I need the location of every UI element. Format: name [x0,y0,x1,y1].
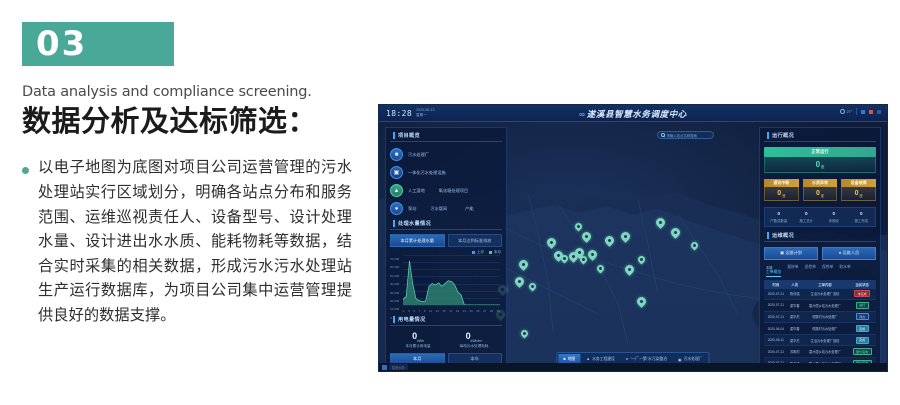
clipboard-icon: ▣ [780,250,784,255]
chart-x-tick: 31 [497,309,500,313]
map-pin-shape [654,216,667,229]
alert-card-title: 设备故障 [841,179,876,187]
map-pin-icon[interactable] [575,223,582,232]
legend-label: 泵站 [408,206,416,212]
left-panel-heading-label: 项目概览 [398,132,420,139]
water-volume-tabs: 本月累计处理水量 本月达到标准排放 [390,234,502,247]
dashboard-title-group: ∞ 遂溪县智慧水务调度中心 [579,108,687,120]
tab-repair[interactable]: 报修单 [787,265,798,277]
kpi-row: 0 户数总数量 0 施工总计 0 未验收 0 施工完成 [764,207,876,227]
chart-y-tick: 0 [390,314,399,322]
chart-y-tick: 30,000 [390,289,399,297]
ops-plan-label: 运维计划 [785,250,802,255]
tab-water-intake[interactable]: 取水单 [839,265,850,277]
chart-x-tick: 19 [456,309,459,313]
worksheet-tabs: 本期 工单概览 报修单 巡检单 保养单 取水单 [764,265,876,277]
plant-icon: ▣ [678,357,682,362]
table-row[interactable]: 2020-06-04梁华春恒隆村污水处理厂完成 [764,323,876,335]
chart-x-tick: 23 [470,309,473,313]
map-pin-shape [528,282,538,292]
legend-label: 人工湿地 [408,188,425,194]
chart-x-tick: 29 [490,309,493,313]
alert-cards: 通讯中断 0 座 水质异常 0 座 设备故障 [764,179,876,201]
chart-x-tick: 17 [449,309,452,313]
worksheet-table: 时间 人员 工单内容 当前状态 2020-07-21陈伟强生活污水处理厂巡检未完… [764,280,876,370]
alert-card-unit: 座 [821,193,824,198]
power-heading-label: 用电量情况 [398,316,425,323]
water-icon: ● [626,357,628,361]
dashboard-title: 遂溪县智慧水务调度中心 [587,108,687,120]
slide-page: 03 Data analysis and compliance screenin… [0,0,900,405]
heading-accent-bar [393,132,395,139]
alert-card-body: 0 座 [803,187,838,201]
chart-x-tick: 7 [419,309,421,313]
alert-card-fault[interactable]: 设备故障 0 座 [841,179,876,201]
app-icon[interactable] [382,365,387,370]
kpi-value: 0 [820,211,848,216]
table-cell-date: 2020-06-04 [764,323,788,335]
left-panel: 项目概览 ■ 污水处理厂 ▣ 一体化污水处理设施 ▲ 人工湿地 氧化塘处理项目 [385,127,507,365]
building-icon: ▣ [390,166,403,179]
heading-accent-bar [767,232,769,239]
build-icon: ▲ [586,357,590,361]
tab-monthly-compliant[interactable]: 本月达到标准排放 [448,234,503,247]
legend-swatch-last-month [472,251,475,254]
dashboard-topbar: 18:28 2020-08-13 星期一 ∞ 遂溪县智慧水务调度中心 27° [379,105,887,122]
user-icon: ● [839,250,842,255]
table-row[interactable]: 2020-06-11梁华杰生活污水处理厂巡检完成 [764,334,876,346]
ops-heading: 运维概况 [764,232,876,242]
kpi-label: 施工完成 [848,218,876,223]
map-pin-shape [690,241,700,251]
map-pin-icon[interactable] [580,256,587,265]
chart-y-tick: 20,000 [390,297,399,305]
left-text-column: 03 Data analysis and compliance screenin… [22,22,352,329]
english-subtitle: Data analysis and compliance screening. [22,84,352,100]
section-number: 03 [36,27,87,61]
table-cell-content: 生活污水处理厂巡检 [802,334,849,346]
right-panel-heading: 运行概况 [764,132,876,142]
table-cell-date: 2020-07-21 [764,311,788,323]
status-normal-value: 0 [816,160,820,169]
table-cell-date: 2020-06-11 [764,334,788,346]
table-header-content: 工单内容 [802,280,849,289]
table-cell-date: 2020-07-21 [764,300,788,312]
bullet-dot-icon [22,167,29,174]
bottom-tab-plant-label: 污水处理厂 [684,357,703,362]
alert-card-title: 水质异常 [803,179,838,187]
map-pin-icon[interactable] [521,330,528,339]
table-cell-status: 待办 [848,311,876,323]
map-pin-icon[interactable] [588,250,597,262]
table-cell-status: 完成 [848,334,876,346]
tab-maintenance[interactable]: 保养单 [822,265,833,277]
table-row[interactable]: 2020-07-21梁华杰恒隆村污水处理厂待办 [764,311,876,323]
legend-item[interactable]: ▲ 人工湿地 氧化塘处理项目 [390,184,502,197]
table-header-row: 时间 人员 工单内容 当前状态 [764,280,876,289]
table-header-date: 时间 [764,280,788,289]
chart-x-tick: 9 [424,309,426,313]
left-panel-heading: 项目概览 [390,132,502,142]
wetland-icon: ▲ [390,184,403,197]
kpi-item: 0 未验收 [820,211,848,223]
map-pin-shape [586,248,599,261]
search-icon [661,133,665,137]
power-stat-value: 0kWh/m³ [446,331,502,343]
tab-worksheet-overview[interactable]: 本期 工单概览 [766,265,781,277]
legend-swatch-this-month [489,251,492,254]
status-badge-normal: 正常运行 [764,147,876,157]
chart-x-axis: 135791113151719212325272931 [403,309,500,313]
map-pin-icon[interactable] [582,232,591,244]
table-cell-person: 梁华春 [788,323,802,335]
status-badge: 部分完成 [853,348,872,355]
power-unit: kWh/m³ [471,339,483,343]
map-pin-shape [580,230,593,243]
weather-temp: 27° [847,110,852,114]
map-pin-shape [623,263,636,276]
table-cell-content: 恒隆村污水处理厂 [802,311,849,323]
status-badge: 完成 [856,325,869,332]
alert-card-body: 0 座 [764,187,799,201]
tab-inspection[interactable]: 巡检单 [805,265,816,277]
alert-card-unit: 座 [782,193,785,198]
map-pin-shape [513,275,526,288]
ops-heading-label: 运维概况 [772,232,794,239]
map-pin-shape [603,234,616,247]
map-pin-icon[interactable] [691,242,698,251]
table-cell-person: 梁华杰 [788,334,802,346]
map-pin-shape [579,255,589,265]
map-pin-icon[interactable] [638,256,645,265]
kpi-value: 0 [793,211,821,216]
alert-card-value: 0 [816,190,820,197]
map-pin-shape [520,329,530,339]
legend-label-tertiary: 产能 [465,206,473,212]
kpi-value: 0 [765,211,793,216]
legend-label-secondary: 污水管网 [430,206,447,212]
map-icon: ■ [563,357,565,361]
map-pin-shape [669,226,682,239]
chart-y-tick: 70,000 [390,255,399,263]
search-placeholder: 请输入站点名称搜索 [667,133,698,138]
chart-x-tick: 27 [483,309,486,313]
taskbar-app-label[interactable]: 智慧水务 [389,364,408,370]
map-pin-icon[interactable] [547,238,556,250]
map-pin-shape [574,222,584,232]
chart-x-tick: 21 [463,309,466,313]
page-title: 数据分析及达标筛选： [22,106,352,139]
bottom-tab-construction-label: 水务工程建设 [592,357,615,362]
legend-item[interactable]: ● 泵站 污水管网 产能 [390,202,502,215]
right-panel-heading-label: 运行概况 [772,132,794,139]
ops-staff-button[interactable]: ● 运维人员 [822,247,876,260]
bullet-item: 以电子地图为底图对项目公司运营管理的污水处理站实行区域划分，明确各站点分布和服务… [22,156,352,328]
map-pin-icon[interactable] [605,236,614,248]
window-minimize-icon[interactable] [861,110,865,114]
table-row[interactable]: 2020-07-21苏明村雷州潭乡站污水处理厂部分完成 [764,346,876,358]
table-cell-person: 梁华春 [788,300,802,312]
table-cell-status: 未完成 [848,289,876,300]
os-taskbar: 智慧水务 [379,363,887,371]
alert-card-value: 0 [855,190,859,197]
status-badge: 进行 [856,302,869,309]
alert-card-value: 0 [777,190,781,197]
map-pin-icon[interactable] [637,297,646,309]
chart-y-axis: 70,00060,00050,00040,00030,00020,00010,0… [390,255,399,322]
project-legend-list: ■ 污水处理厂 ▣ 一体化污水处理设施 ▲ 人工湿地 氧化塘处理项目 ● 泵 [390,148,502,215]
table-cell-person: 苏明村 [788,346,802,358]
status-normal-unit: 座 [821,164,824,169]
legend-label: 污水处理厂 [408,152,429,158]
power-stat: 0kWh/m³ 每吨污水处理电耗 [446,331,502,349]
bottom-tab-policy-label: "一厂一策"水污染整治 [630,357,667,362]
ops-buttons: ▣ 运维计划 ● 运维人员 [764,247,876,260]
window-close-icon[interactable] [869,110,873,114]
chart-y-tick: 50,000 [390,272,399,280]
map-pin-icon[interactable] [597,265,604,274]
table-cell-person: 陈伟强 [788,289,802,300]
table-row[interactable]: 2020-07-21梁华春雷州潭乡站污水处理厂进行 [764,300,876,312]
map-pin-icon[interactable] [656,218,665,230]
search-input[interactable]: 请输入站点名称搜索 [657,131,714,139]
heading-accent-bar [767,132,769,139]
power-stat: 0kWh 本月累计用电量 [390,331,446,349]
infinity-icon: ∞ [579,110,583,119]
alert-card-title: 通讯中断 [764,179,799,187]
factory-icon: ■ [390,148,403,161]
table-cell-content: 恒隆村污水处理厂 [802,323,849,335]
dashboard-screenshot: 18:28 2020-08-13 星期一 ∞ 遂溪县智慧水务调度中心 27° [378,104,888,372]
table-cell-content: 雷州潭乡站污水处理厂 [802,300,849,312]
map-pin-icon[interactable] [621,232,630,244]
heading-accent-bar [393,220,395,227]
chart-x-tick: 5 [413,309,415,313]
legend-item[interactable]: ■ 污水处理厂 [390,148,502,161]
map-pin-icon[interactable] [515,277,524,289]
map-pin-shape [619,230,632,243]
chart-y-tick: 40,000 [390,280,399,288]
table-row[interactable]: 2020-07-21陈伟强生活污水处理厂巡检未完成 [764,289,876,300]
map-pin-shape [637,255,647,265]
kpi-item: 0 施工完成 [848,211,876,223]
legend-item[interactable]: ▣ 一体化污水处理设施 [390,166,502,179]
table-cell-date: 2020-07-21 [764,346,788,358]
chart-plot-area [403,255,500,305]
power-stats: 0kWh 本月累计用电量 0kWh/m³ 每吨污水处理电耗 [390,331,502,349]
table-cell-status: 部分完成 [848,346,876,358]
power-stat-value: 0kWh [390,331,446,343]
table-cell-content: 雷州潭乡站污水处理厂 [802,346,849,358]
map-pin-shape [517,258,530,271]
alert-card-unit: 座 [860,193,863,198]
sun-icon [840,109,845,114]
kpi-item: 0 户数总数量 [765,211,793,223]
table-header-status: 当前状态 [848,280,876,289]
kpi-item: 0 施工总计 [793,211,821,223]
chart-x-tick: 25 [476,309,479,313]
legend-label: 一体化污水处理设施 [408,170,446,176]
map-pin-icon[interactable] [529,283,536,292]
weather-widget: 27° [840,109,852,114]
power-stat-label: 本月累计用电量 [390,344,446,349]
chart-gridline [403,305,500,306]
map-pin-shape [545,236,558,249]
table-cell-date: 2020-07-21 [764,289,788,300]
alert-card-body: 0 座 [841,187,876,201]
ops-plan-button[interactable]: ▣ 运维计划 [764,247,818,260]
map-pin-shape [635,295,648,308]
chart-series-svg [403,255,500,305]
status-normal-value-box: 0 座 [764,157,876,173]
table-header-person: 人员 [788,280,802,289]
legend-label-secondary: 氧化塘处理项目 [439,188,468,194]
chart-y-tick: 60,000 [390,263,399,271]
alert-card-comm[interactable]: 通讯中断 0 座 [764,179,799,201]
map-pin-shape [596,264,606,274]
chart-x-tick: 11 [429,309,432,313]
tab-worksheet-label: 工单概览 [766,270,781,274]
table-cell-status: 进行 [848,300,876,312]
map-pin-icon[interactable] [625,265,634,277]
map-pin-icon[interactable] [561,255,568,264]
power-stat-label: 每吨污水处理电耗 [446,344,502,349]
clock-date: 2020-08-13 星期一 [416,108,434,118]
status-badge: 待办 [856,313,869,320]
topbar-right-group: 27° [840,108,881,115]
table-cell-person: 梁华杰 [788,311,802,323]
water-volume-heading-label: 处理水量情况 [398,220,431,227]
chart-x-tick: 15 [442,309,445,313]
chart-x-tick: 3 [408,309,410,313]
valve-icon: ● [390,202,403,215]
map-pin-icon[interactable] [671,228,680,240]
window-settings-icon[interactable] [877,110,881,114]
section-number-badge: 03 [22,22,174,66]
clock-date-line2: 星期一 [416,113,434,118]
kpi-label: 施工总计 [793,218,821,223]
status-badge: 完成 [856,337,869,344]
chart-x-tick: 1 [403,309,405,313]
water-volume-chart: 上月 本月 70,00060,00050,00040,00030,00020,0… [390,251,502,313]
kpi-label: 未验收 [820,218,848,223]
map-pin-icon[interactable] [519,260,528,272]
topbar-divider [856,108,857,115]
status-badge: 未完成 [854,290,870,297]
kpi-value: 0 [848,211,876,216]
tab-monthly-total[interactable]: 本月累计处理水量 [390,234,445,247]
ops-staff-label: 运维人员 [842,250,859,255]
table-body: 2020-07-21陈伟强生活污水处理厂巡检未完成2020-07-21梁华春雷州… [764,289,876,370]
chart-x-tick: 13 [436,309,439,313]
power-unit: kWh [417,339,424,343]
bottom-tab-map-label: 地图 [568,357,576,362]
clock-time: 18:28 [386,109,412,118]
chart-y-tick: 10,000 [390,305,399,313]
table-cell-status: 完成 [848,323,876,335]
water-volume-heading: 处理水量情况 [390,220,502,230]
alert-card-quality[interactable]: 水质异常 0 座 [803,179,838,201]
table-cell-content: 生活污水处理厂巡检 [802,289,849,300]
kpi-label: 户数总数量 [765,218,793,223]
power-heading: 用电量情况 [390,316,502,326]
bullet-text: 以电子地图为底图对项目公司运营管理的污水处理站实行区域划分，明确各站点分布和服务… [38,156,352,328]
right-panel: 运行概况 正常运行 0 座 通讯中断 0 座 [759,127,881,365]
